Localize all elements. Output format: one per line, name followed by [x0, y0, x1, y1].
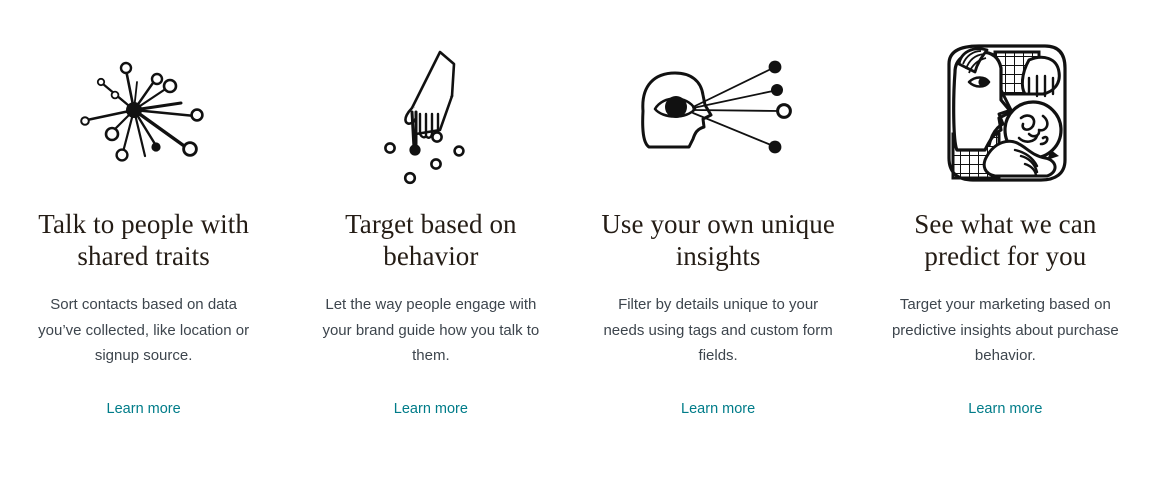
- feature-card: Target based on behavior Let the way peo…: [287, 0, 574, 487]
- feature-title: Target based on behavior: [311, 208, 551, 272]
- feature-title: See what we can predict for you: [885, 208, 1125, 272]
- feature-card: Talk to people with shared traits Sort c…: [0, 0, 287, 487]
- feature-description: Target your marketing based on predictiv…: [889, 292, 1121, 369]
- feature-description: Let the way people engage with your bran…: [315, 292, 547, 369]
- feature-description: Filter by details unique to your needs u…: [602, 292, 834, 369]
- glyph-face-crystal-ball-illustration: [933, 38, 1078, 188]
- features-grid: Talk to people with shared traits Sort c…: [0, 0, 1149, 487]
- feature-title: Talk to people with shared traits: [24, 208, 264, 272]
- feature-title: Use your own unique insights: [598, 208, 838, 272]
- learn-more-link[interactable]: Learn more: [681, 399, 755, 419]
- network-hub-nodes-illustration: [79, 38, 209, 188]
- pointing-hand-dots-illustration: [366, 38, 496, 188]
- head-eye-sightlines-illustration: [631, 38, 806, 188]
- learn-more-link[interactable]: Learn more: [968, 399, 1042, 419]
- learn-more-link[interactable]: Learn more: [394, 399, 468, 419]
- feature-card: Use your own unique insights Filter by d…: [575, 0, 862, 487]
- feature-card: See what we can predict for you Target y…: [862, 0, 1149, 487]
- learn-more-link[interactable]: Learn more: [107, 399, 181, 419]
- feature-description: Sort contacts based on data you’ve colle…: [28, 292, 260, 369]
